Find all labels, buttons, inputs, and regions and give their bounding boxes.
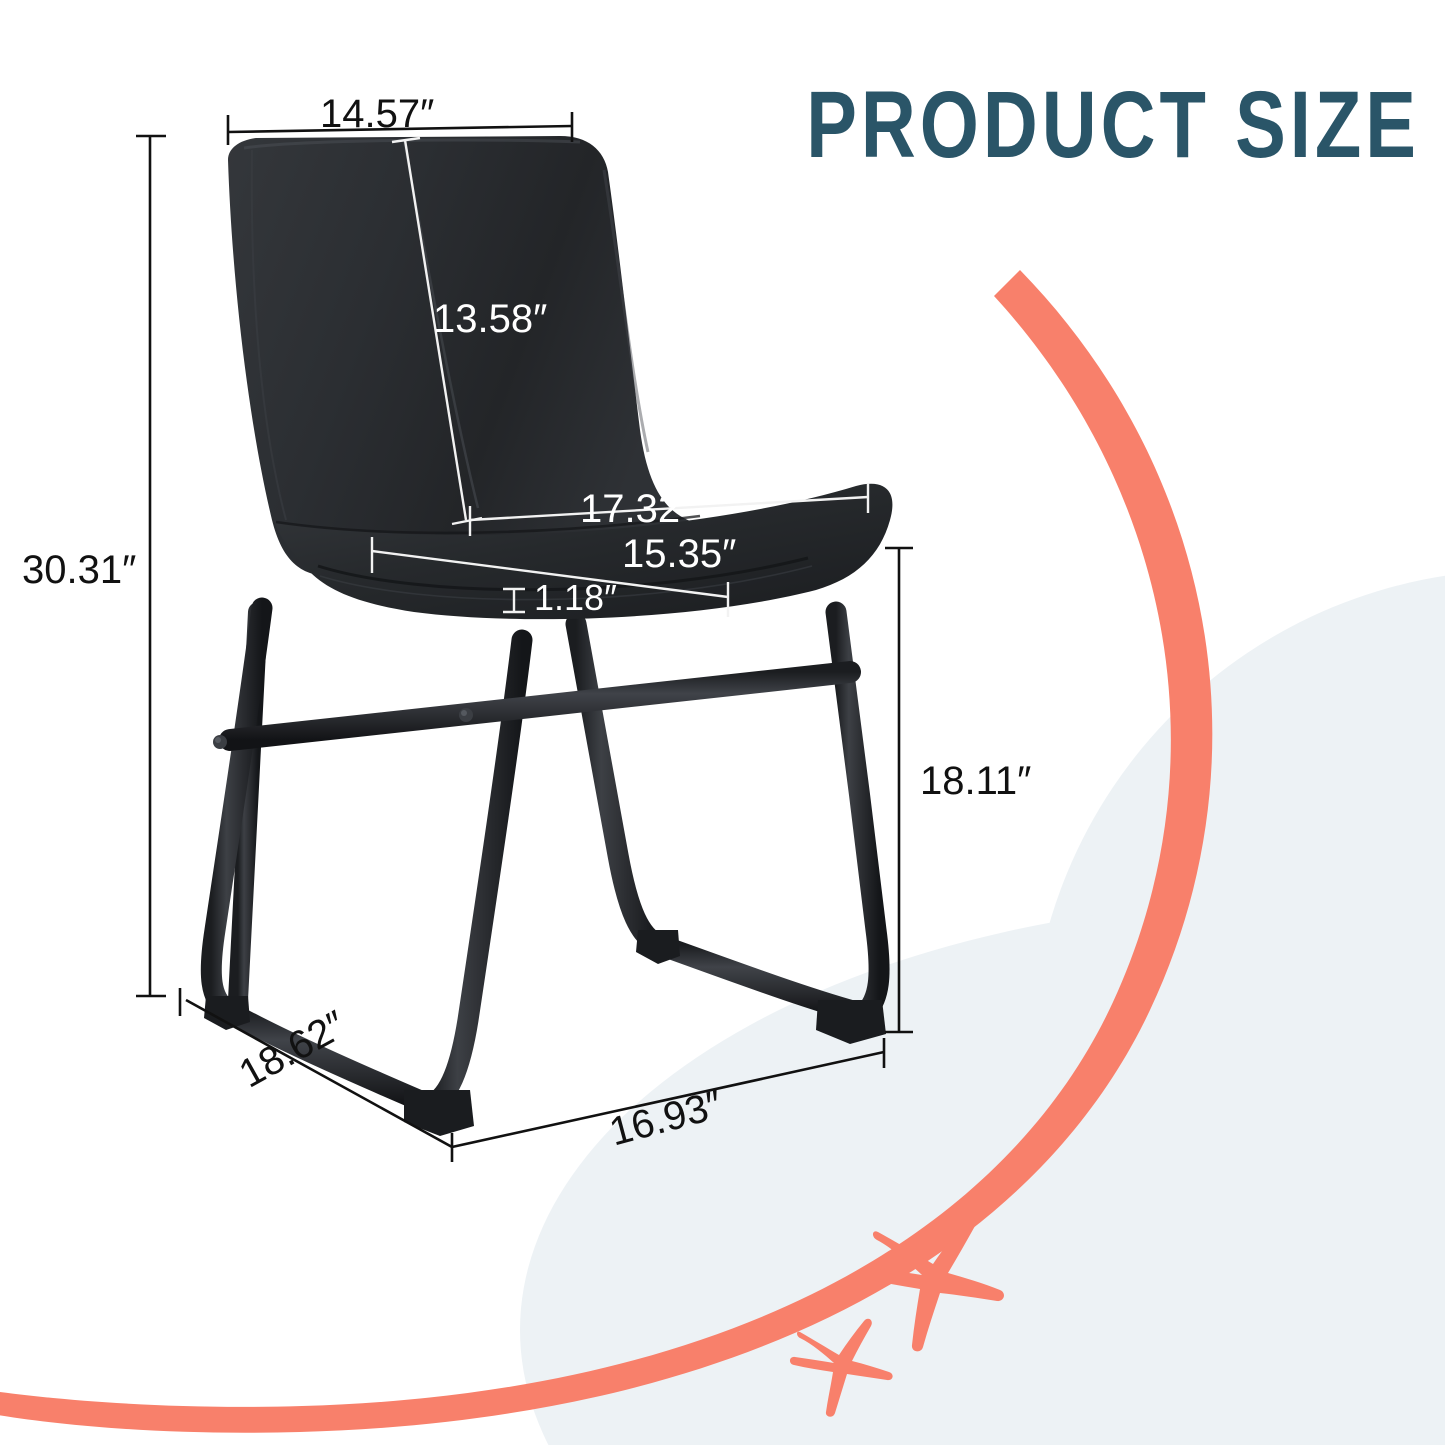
dimline-seat-height — [885, 548, 913, 1032]
dimension-label-seat-depth: 17.32″ — [580, 487, 694, 532]
dimension-label-width-top: 14.57″ — [320, 92, 434, 137]
dimension-label-seat-thickness: 1.18″ — [534, 577, 617, 619]
dimension-label-overall-height: 30.31″ — [22, 548, 136, 593]
dimline-overall-height — [136, 136, 166, 996]
dimline-seat-thickness — [503, 589, 525, 612]
product-size-infographic: PRODUCT SIZE 14.57″ 30.31″ 13.58″ 17.32″… — [0, 0, 1445, 1445]
dimension-lines — [0, 0, 1445, 1445]
page-title: PRODUCT SIZE — [788, 78, 1420, 173]
dimension-label-seat-height: 18.11″ — [920, 759, 1031, 804]
dimension-label-back-height: 13.58″ — [433, 297, 547, 342]
dimension-label-seat-width: 15.35″ — [622, 532, 736, 577]
